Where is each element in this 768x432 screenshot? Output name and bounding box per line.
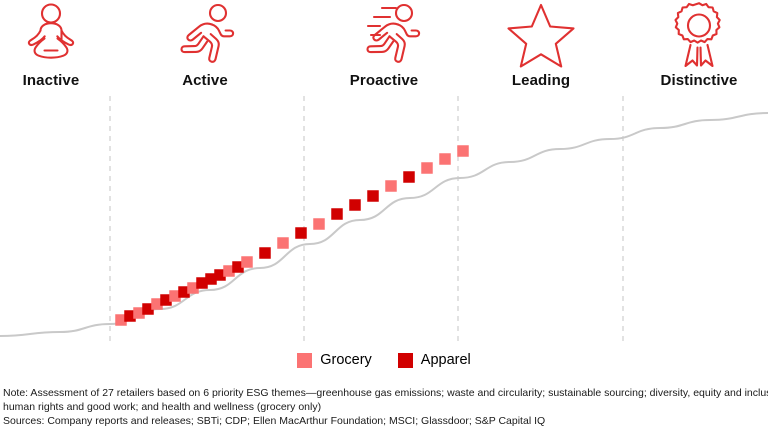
chart-plot-area <box>0 96 768 344</box>
rosette-icon <box>624 0 768 70</box>
data-marker-grocery-14[interactable] <box>241 256 253 268</box>
data-marker-apparel-15[interactable] <box>259 247 271 259</box>
data-marker-grocery-26[interactable] <box>457 145 469 157</box>
chart-legend: Grocery Apparel <box>0 349 768 371</box>
data-marker-apparel-23[interactable] <box>403 171 415 183</box>
stage-label-active: Active <box>130 72 280 89</box>
legend-label-grocery: Grocery <box>320 352 372 368</box>
stage-proactive: Proactive <box>309 0 459 89</box>
data-marker-grocery-18[interactable] <box>313 218 325 230</box>
footnotes: Note: Assessment of 27 retailers based o… <box>3 386 765 428</box>
legend-item-grocery[interactable]: Grocery <box>297 352 372 368</box>
legend-item-apparel[interactable]: Apparel <box>398 352 471 368</box>
data-marker-apparel-21[interactable] <box>367 190 379 202</box>
data-marker-grocery-16[interactable] <box>277 237 289 249</box>
legend-swatch-grocery <box>297 353 312 368</box>
data-marker-apparel-20[interactable] <box>349 199 361 211</box>
data-marker-apparel-19[interactable] <box>331 208 343 220</box>
stage-header: Inactive Active <box>0 0 768 96</box>
stage-inactive: Inactive <box>0 0 126 89</box>
legend-swatch-apparel <box>398 353 413 368</box>
stage-label-proactive: Proactive <box>309 72 459 89</box>
maturity-s-curve <box>0 113 768 336</box>
legend-label-apparel: Apparel <box>421 352 471 368</box>
retailer-markers <box>115 145 469 326</box>
footnote-note-line-1: Note: Assessment of 27 retailers based o… <box>3 386 765 400</box>
footnote-sources: Sources: Company reports and releases; S… <box>3 414 765 428</box>
sprinter-icon <box>309 0 459 70</box>
stage-label-distinctive: Distinctive <box>624 72 768 89</box>
stage-label-inactive: Inactive <box>0 72 126 89</box>
data-marker-grocery-22[interactable] <box>385 180 397 192</box>
stage-distinctive: Distinctive <box>624 0 768 89</box>
runner-icon <box>130 0 280 70</box>
stage-label-leading: Leading <box>466 72 616 89</box>
stage-leading: Leading <box>466 0 616 89</box>
data-marker-grocery-25[interactable] <box>439 153 451 165</box>
stage-active: Active <box>130 0 280 89</box>
data-marker-apparel-17[interactable] <box>295 227 307 239</box>
star-icon <box>466 0 616 70</box>
data-marker-grocery-24[interactable] <box>421 162 433 174</box>
esg-maturity-scatter-chart <box>0 96 768 344</box>
meditation-icon <box>0 0 126 70</box>
footnote-note-line-2: human rights and good work; and health a… <box>3 400 765 414</box>
